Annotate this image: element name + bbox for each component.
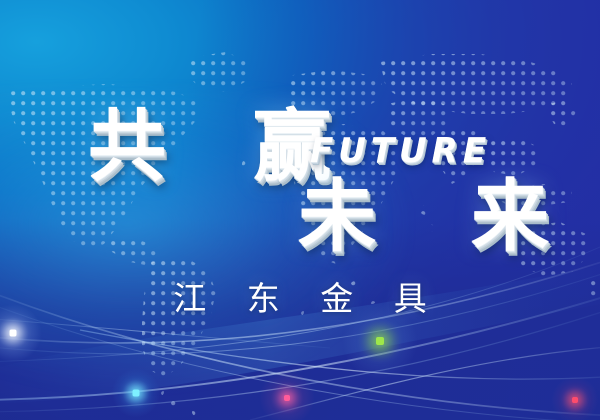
headline-english-future: FUTURE <box>310 131 491 171</box>
promotional-banner: 共 赢 FUTURE 未 来 江 东 金 具 <box>0 0 600 420</box>
brand-name: 江 东 金 具 <box>0 272 600 320</box>
headline-chinese-line-2: 未 来 <box>298 178 583 256</box>
headline-copy-block: 共 赢 FUTURE 未 来 江 东 金 具 <box>0 0 600 420</box>
